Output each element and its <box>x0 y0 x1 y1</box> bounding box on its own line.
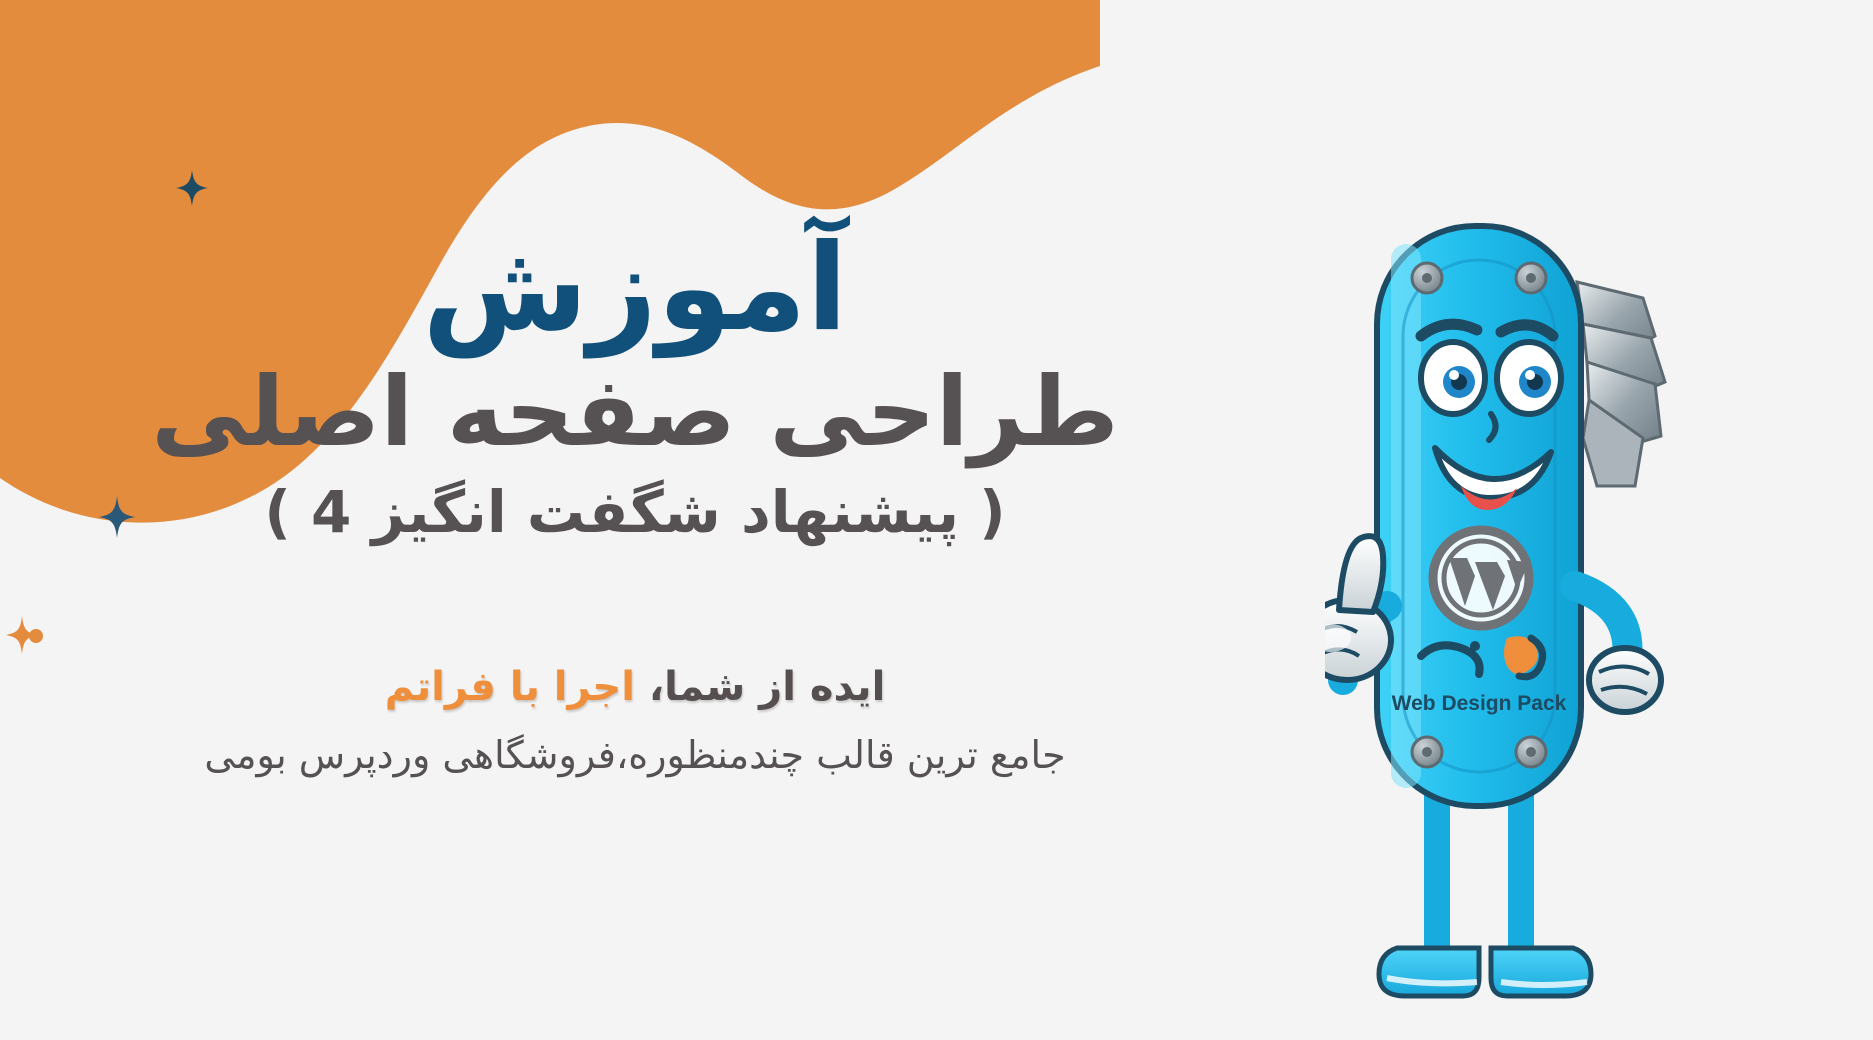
mascot-legs <box>1379 786 1591 996</box>
wordpress-icon <box>1433 530 1529 626</box>
description-line: جامع ترین قالب چندمنظوره،فروشگاهی وردپرس… <box>204 733 1065 779</box>
mascot-character: Web Design Pack <box>1325 186 1725 1016</box>
banner-canvas: آموزش طراحی صفحه اصلی ( پیشنهاد شگفت انگ… <box>0 0 1873 1040</box>
mascot-left-arm-pointing <box>1325 536 1391 680</box>
mascot-brand-sub: Web Design Pack <box>1392 692 1567 715</box>
tagline-dark-part: ایده از شما، <box>649 664 885 710</box>
tagline: ایده از شما، اجرا با فراتم <box>385 663 886 711</box>
hero-text-block: آموزش طراحی صفحه اصلی ( پیشنهاد شگفت انگ… <box>0 0 1270 1040</box>
page-subtitle: طراحی صفحه اصلی <box>151 362 1118 463</box>
page-title: آموزش <box>422 228 847 350</box>
mascot-tool-blades <box>1577 282 1665 486</box>
tagline-orange-part: اجرا با فراتم <box>385 664 635 710</box>
mascot-right-arm <box>1575 586 1661 712</box>
mascot-body <box>1377 226 1581 806</box>
offer-note: ( پیشنهاد شگفت انگیز 4 ) <box>264 481 1005 545</box>
